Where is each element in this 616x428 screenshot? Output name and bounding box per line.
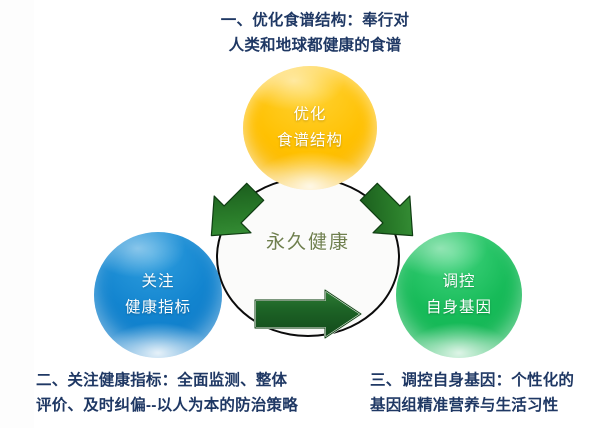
diagram-canvas: 一、优化食谱结构：奉行对 人类和地球都健康的食谱 永久健康	[0, 0, 616, 428]
node-regulate-genes[interactable]: 调控 自身基因	[396, 232, 522, 358]
node-regulate-genes-line1: 调控	[442, 269, 475, 295]
node-regulate-genes-line2: 自身基因	[426, 295, 492, 321]
caption-optimize-diet: 一、优化食谱结构：奉行对 人类和地球都健康的食谱	[170, 8, 460, 58]
node-optimize-diet[interactable]: 优化 食谱结构	[243, 66, 377, 190]
arrow-top-to-left-icon	[196, 175, 272, 251]
arrow-left-to-right-icon	[253, 288, 365, 340]
node-optimize-diet-line2: 食谱结构	[277, 128, 343, 154]
caption-regulate-genes: 三、调控自身基因：个性化的 基因组精准营养与生活习性	[370, 368, 616, 418]
node-monitor-health-line1: 关注	[141, 269, 174, 295]
node-monitor-health[interactable]: 关注 健康指标	[94, 232, 222, 358]
node-monitor-health-line2: 健康指标	[125, 295, 191, 321]
caption-monitor-health: 二、关注健康指标：全面监测、整体 评价、及时纠偏--以人为本的防治策略	[36, 368, 346, 418]
arrow-top-to-right-icon	[352, 175, 428, 251]
node-optimize-diet-line1: 优化	[293, 102, 326, 128]
